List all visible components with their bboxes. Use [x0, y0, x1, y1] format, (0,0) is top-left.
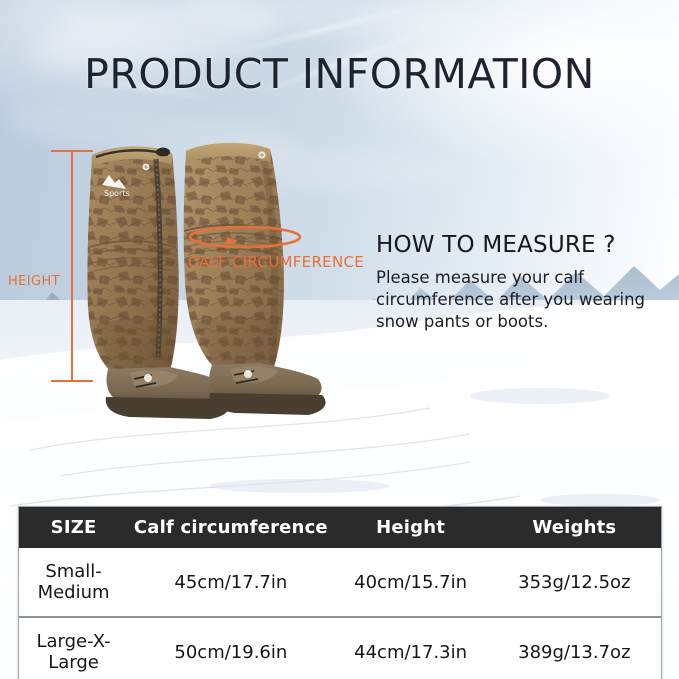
height-marker-cap-bottom — [51, 380, 93, 382]
cell-weight: 389g/13.7oz — [488, 617, 661, 679]
calf-circumference-label: CALF CIRCUMFERENCE — [188, 253, 364, 271]
cell-height: 44cm/17.3in — [334, 617, 488, 679]
table-row: Large-X-Large 50cm/19.6in 44cm/17.3in 38… — [19, 617, 661, 679]
gaiter-left: Sports — [87, 146, 178, 373]
svg-text:Sports: Sports — [104, 189, 130, 198]
boot-right — [209, 363, 325, 415]
calf-circumference-ring-icon — [186, 224, 304, 250]
cell-size: Small-Medium — [19, 548, 128, 617]
product-image-snow-gaiters: Sports — [78, 135, 328, 425]
column-header-weights: Weights — [488, 507, 661, 548]
size-table: SIZE Calf circumference Height Weights S… — [18, 506, 662, 679]
cell-calf: 50cm/19.6in — [128, 617, 333, 679]
how-to-measure-body: Please measure your calf circumference a… — [376, 267, 666, 332]
cell-weight: 353g/12.5oz — [488, 548, 661, 617]
cell-calf: 45cm/17.7in — [128, 548, 333, 617]
table-header-row: SIZE Calf circumference Height Weights — [19, 507, 661, 548]
how-to-measure-heading: HOW TO MEASURE ? — [376, 232, 666, 258]
height-measure-marker — [64, 150, 80, 382]
how-to-measure-section: HOW TO MEASURE ? Please measure your cal… — [376, 232, 666, 332]
column-header-size: SIZE — [19, 507, 128, 548]
table-row: Small-Medium 45cm/17.7in 40cm/15.7in 353… — [19, 548, 661, 617]
cell-height: 40cm/15.7in — [334, 548, 488, 617]
height-marker-line — [71, 150, 73, 382]
page-title: PRODUCT INFORMATION — [0, 50, 679, 98]
height-label: HEIGHT — [8, 274, 60, 289]
column-header-height: Height — [334, 507, 488, 548]
cell-size: Large-X-Large — [19, 617, 128, 679]
column-header-calf-circumference: Calf circumference — [128, 507, 333, 548]
product-info-page: PRODUCT INFORMATION — [0, 0, 679, 679]
